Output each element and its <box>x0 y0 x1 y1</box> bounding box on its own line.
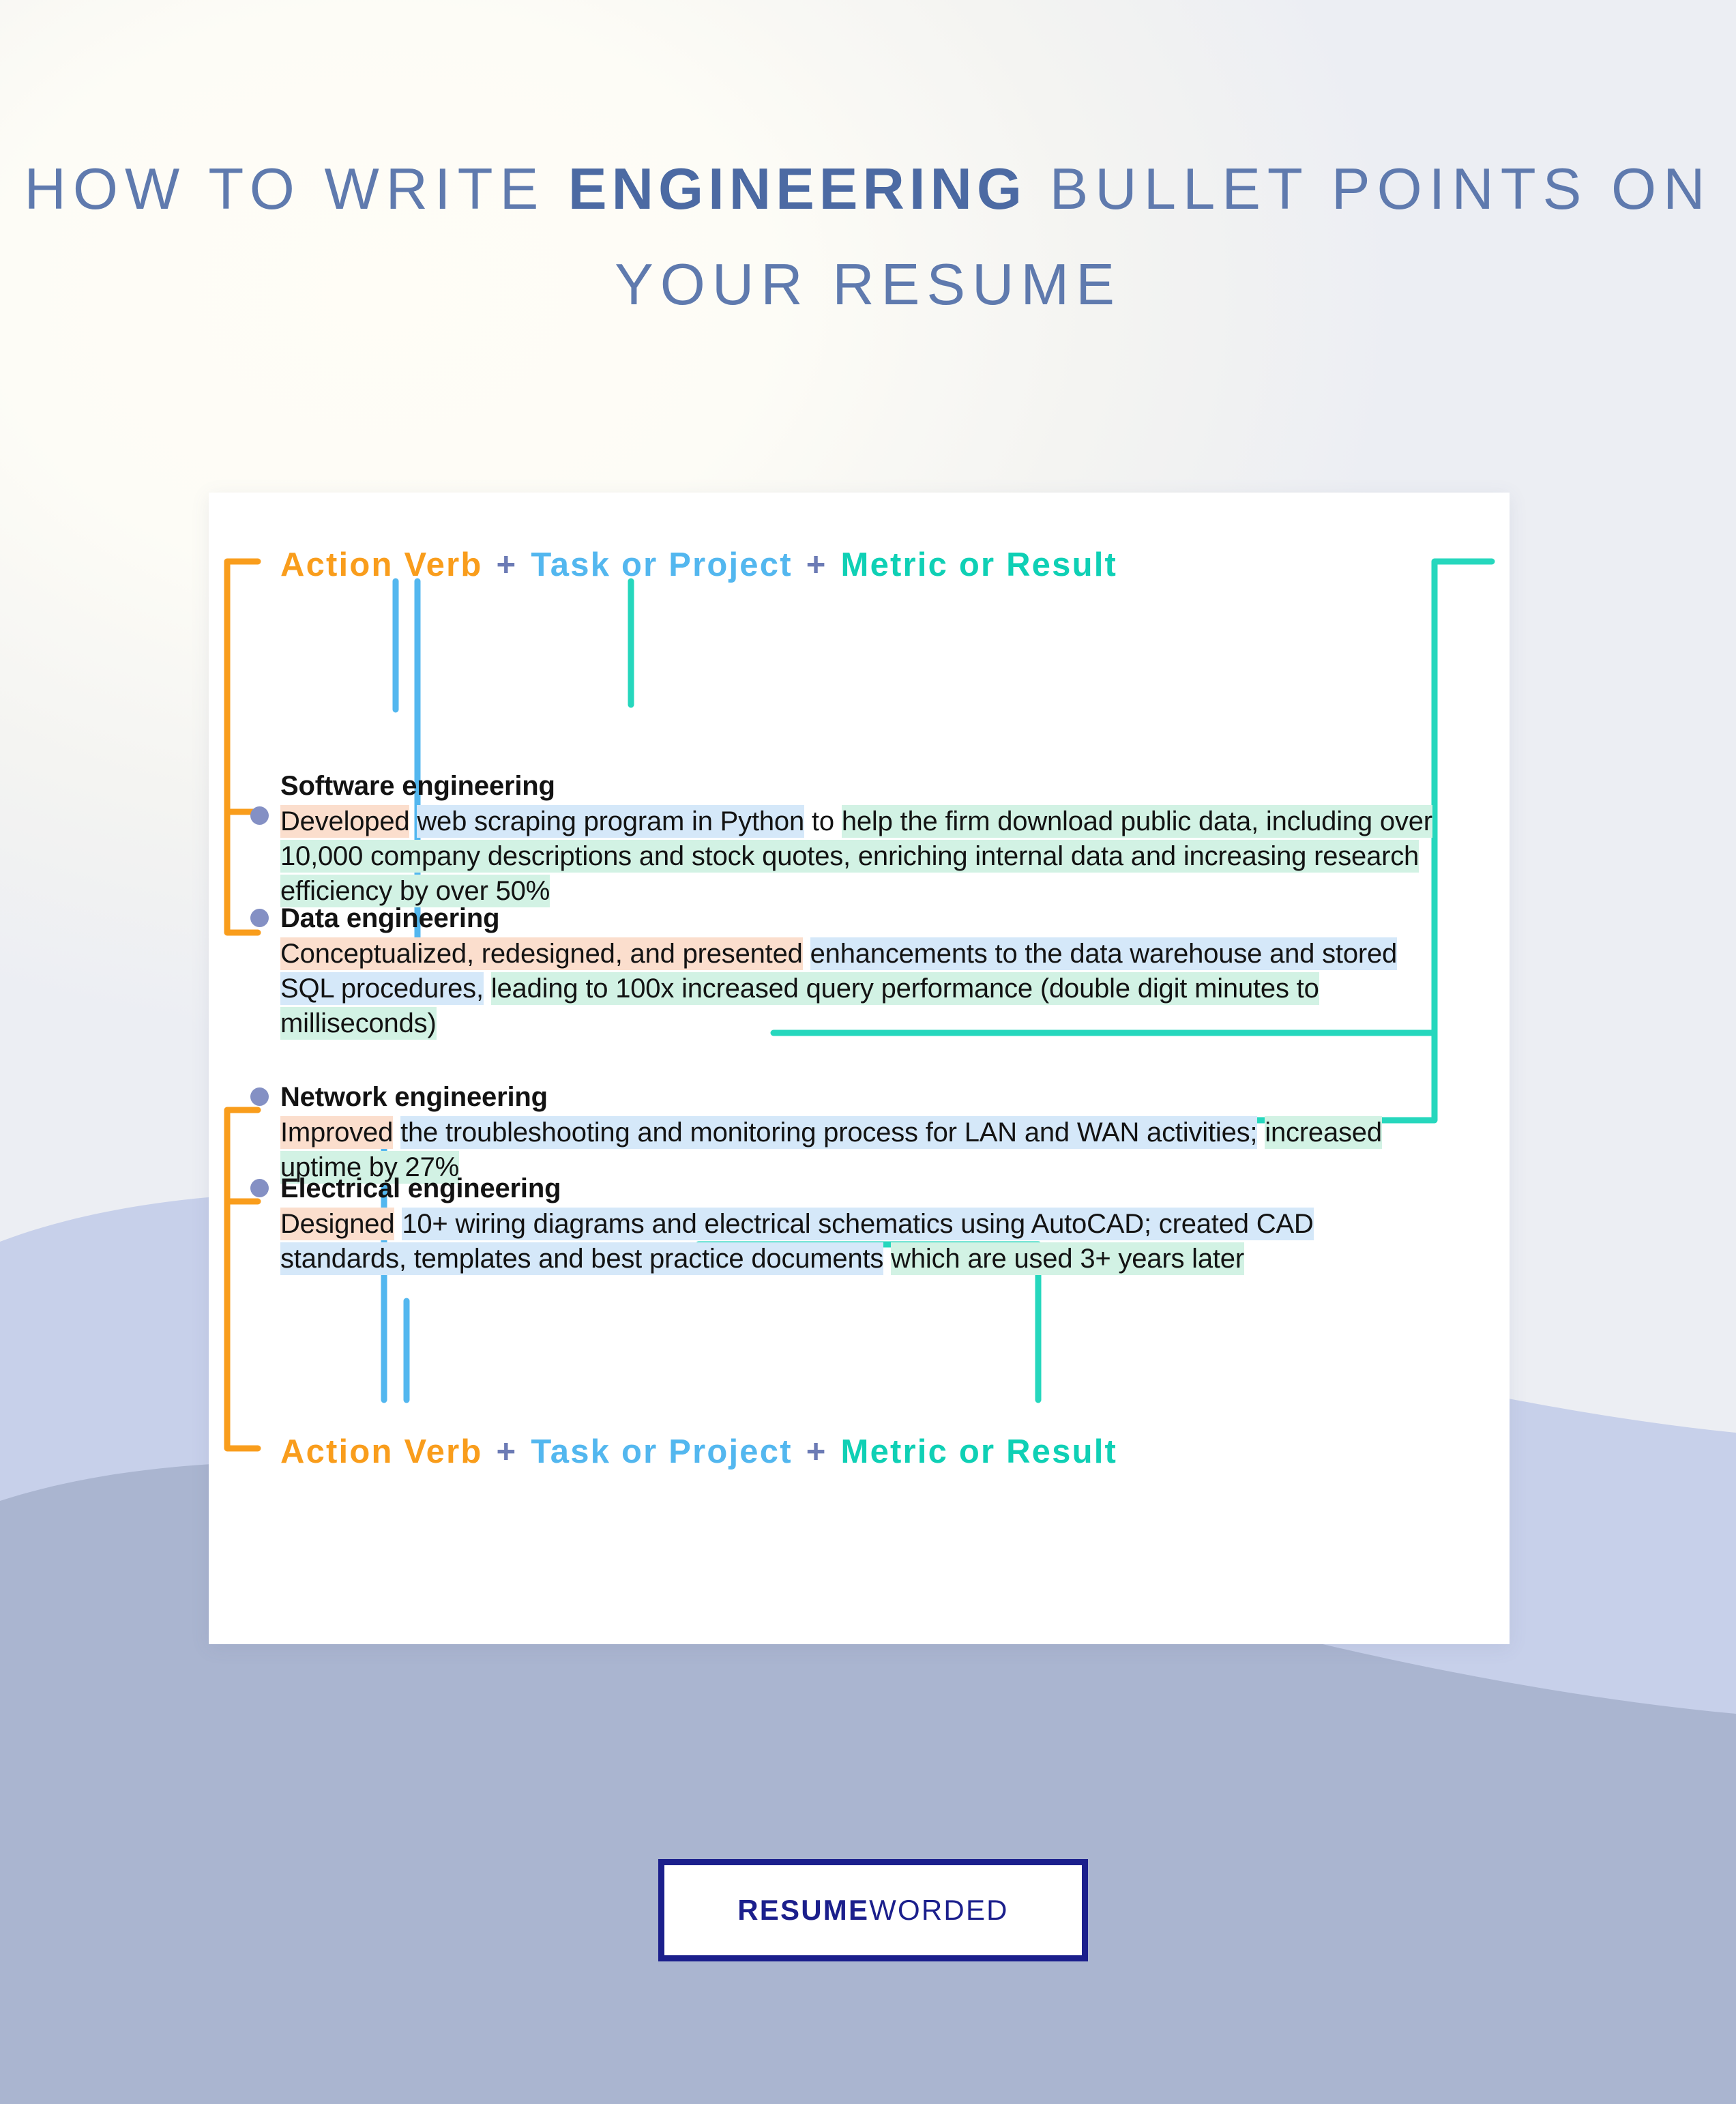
formula-metric-bottom: Metric or Result <box>841 1433 1118 1470</box>
logo-bold-word: RESUME <box>737 1894 869 1927</box>
bullet-dot-icon <box>250 806 269 825</box>
bullet-heading: Network engineering <box>280 1081 1481 1113</box>
bullet-segment-verb: Designed <box>280 1208 394 1240</box>
bullet-segment-verb: Developed <box>280 805 409 838</box>
bullet-segment-none <box>409 805 417 838</box>
formula-plus-2-top: + <box>793 546 841 583</box>
logo-regular-word: WORDED <box>869 1894 1009 1927</box>
bullet-segment-none <box>484 972 491 1005</box>
formula-row-bottom: Action Verb+Task or Project+Metric or Re… <box>280 1433 1117 1471</box>
formula-plus-1-bottom: + <box>482 1433 531 1470</box>
bullet-segment-none <box>883 1242 891 1275</box>
formula-row-top: Action Verb+Task or Project+Metric or Re… <box>280 546 1117 584</box>
bullet-group-network-engineering: Network engineering Improved the trouble… <box>280 1081 1481 1185</box>
bullet-segment-none <box>394 1208 402 1240</box>
formula-plus-1-top: + <box>482 546 531 583</box>
formula-action-verb-bottom: Action Verb <box>280 1433 482 1470</box>
bullet-heading: Electrical engineering <box>280 1172 1481 1205</box>
bullet-segment-metric: which are used 3+ years later <box>891 1242 1244 1275</box>
bullet-group-software-engineering: Software engineering Developed web scrap… <box>280 770 1481 909</box>
bullet-segment-none <box>1257 1116 1265 1149</box>
bullet-group-electrical-engineering: Electrical engineering Designed 10+ wiri… <box>280 1172 1481 1276</box>
bullet-segment-task: web scraping program in Python <box>417 805 804 838</box>
bullet-group-data-engineering: Data engineering Conceptualized, redesig… <box>280 902 1481 1041</box>
bullet-heading: Data engineering <box>280 902 1481 935</box>
bullet-segment-verb: Conceptualized, redesigned, and presente… <box>280 937 803 970</box>
page-title: HOW TO WRITE ENGINEERING BULLET POINTS O… <box>0 142 1736 333</box>
formula-plus-2-bottom: + <box>793 1433 841 1470</box>
bullet-segment-verb: Improved <box>280 1116 393 1149</box>
bullet-body: Designed 10+ wiring diagrams and electri… <box>280 1207 1433 1276</box>
formula-task-top: Task or Project <box>531 546 792 583</box>
bullet-segment-task: the troubleshooting and monitoring proce… <box>400 1116 1257 1149</box>
resume-worded-logo[interactable]: RESUME WORDED <box>658 1859 1088 1961</box>
formula-task-bottom: Task or Project <box>531 1433 792 1470</box>
orange-bracket-top <box>227 561 258 812</box>
formula-action-verb-top: Action Verb <box>280 546 482 583</box>
bullet-dot-icon <box>250 1087 269 1106</box>
bullet-body: Developed web scraping program in Python… <box>280 804 1433 909</box>
title-part-1: HOW TO WRITE <box>25 157 568 222</box>
bullet-segment-none <box>393 1116 400 1149</box>
bullet-formula-card: Action Verb+Task or Project+Metric or Re… <box>209 493 1510 1644</box>
orange-bracket-bottom <box>227 1110 258 1448</box>
bullet-dot-icon <box>250 1179 269 1197</box>
bullet-segment-none <box>803 937 810 970</box>
bullet-segment-none: to <box>804 805 842 838</box>
connector-lines <box>209 493 1510 1644</box>
bullet-body: Conceptualized, redesigned, and presente… <box>280 937 1433 1041</box>
title-emphasis: ENGINEERING <box>568 157 1027 222</box>
bullet-dot-icon <box>250 909 269 927</box>
formula-metric-top: Metric or Result <box>841 546 1118 583</box>
bullet-heading: Software engineering <box>280 770 1481 802</box>
